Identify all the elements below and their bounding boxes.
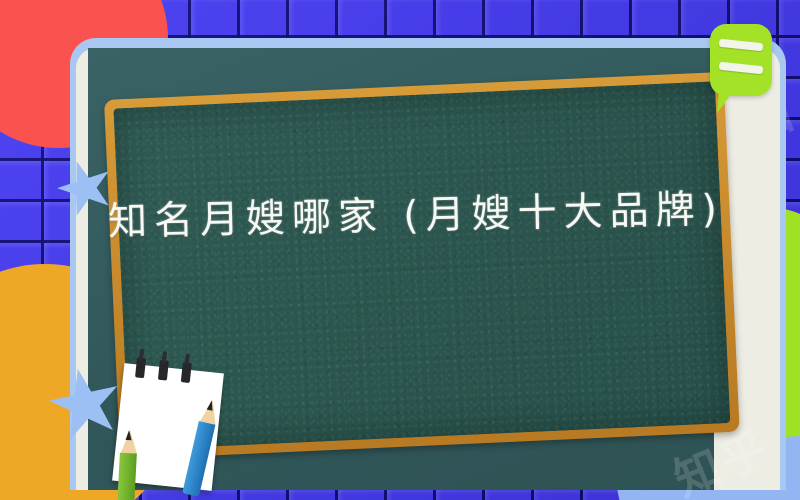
- notepad-spiral-1: [135, 357, 146, 378]
- green-pencil-lead: [126, 430, 133, 440]
- green-pencil-body: [116, 453, 137, 500]
- speech-bubble-line-1: [719, 39, 764, 52]
- speech-bubble-icon: [710, 24, 772, 96]
- speech-bubble-tail: [717, 93, 731, 113]
- notepad-spiral-2: [158, 360, 169, 381]
- speech-bubble-line-2: [719, 62, 764, 75]
- poster-canvas: 知 知名月嫂哪家 (月嫂十大品牌) 知乎: [0, 0, 800, 500]
- notepad-spiral-3: [181, 362, 192, 383]
